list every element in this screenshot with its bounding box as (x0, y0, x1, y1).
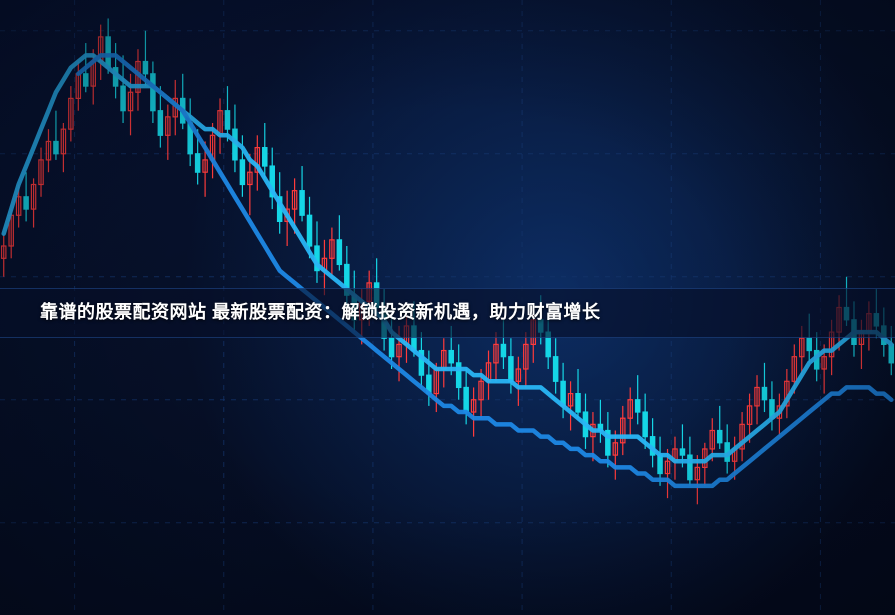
stock-chart-image: 靠谱的股票配资网站 最新股票配资：解锁投资新机遇，助力财富增长 (0, 0, 895, 615)
headline-banner: 靠谱的股票配资网站 最新股票配资：解锁投资新机遇，助力财富增长 (0, 288, 895, 338)
headline-text: 靠谱的股票配资网站 最新股票配资：解锁投资新机遇，助力财富增长 (40, 302, 601, 322)
